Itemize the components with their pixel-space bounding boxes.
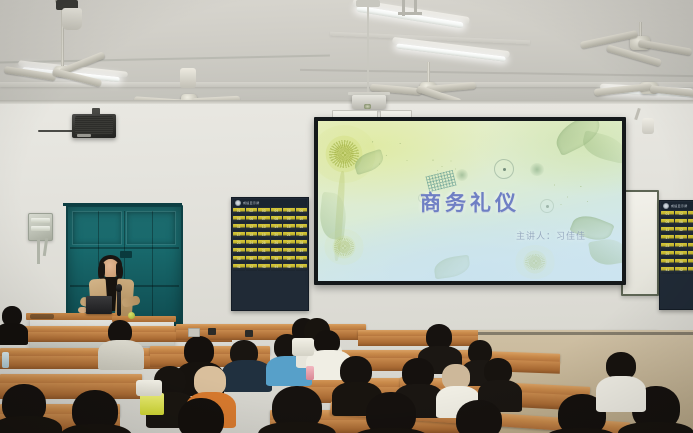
number-board-row: 050607 [661, 219, 693, 226]
laptop[interactable] [86, 296, 112, 314]
number-board-row: 414243 [661, 267, 693, 274]
sunflower-illustration [324, 229, 364, 265]
whiteboard [621, 190, 659, 296]
door-header [63, 203, 182, 206]
number-board-row: 171819202122 [233, 232, 307, 239]
number-board-cell[interactable]: 23 [661, 243, 674, 250]
number-board-row: 010203040506 [233, 208, 307, 215]
number-board-cell[interactable]: 20 [271, 232, 283, 239]
podium-item [30, 314, 54, 319]
number-board-cell[interactable]: 02 [675, 211, 688, 218]
speck-decoration [430, 157, 460, 173]
number-board-cell[interactable]: 41 [661, 267, 674, 274]
number-board-cell[interactable]: 06 [246, 216, 258, 223]
number-board-cell[interactable]: 45 [283, 264, 295, 271]
number-board-cell[interactable]: 13 [258, 224, 270, 231]
water-bottle [2, 352, 9, 368]
number-board-cell[interactable]: 24 [675, 243, 688, 250]
slide-title: 商务礼仪 [318, 187, 622, 217]
student-body [0, 416, 62, 433]
number-board-cell[interactable]: 39 [283, 256, 295, 263]
number-board-cell[interactable]: 06 [675, 219, 688, 226]
number-board-cell[interactable]: 29 [661, 251, 674, 258]
door-panel [126, 211, 176, 245]
number-board-cell[interactable]: 15 [283, 224, 295, 231]
number-board-cell[interactable]: 32 [271, 248, 283, 255]
number-board-row: 111213141516 [233, 224, 307, 231]
student-body [98, 340, 144, 370]
number-board-cell[interactable]: 29 [233, 248, 245, 255]
number-board-cell[interactable]: 05 [283, 208, 295, 215]
leaf-illustration [352, 149, 386, 175]
electrical-box [28, 213, 53, 241]
number-board-cell[interactable]: 05 [233, 216, 245, 223]
conduit [37, 238, 40, 264]
number-board-cell[interactable]: 37 [688, 259, 693, 266]
wall-outlet[interactable] [188, 328, 200, 337]
fan-blade [650, 85, 693, 97]
school-logo-icon [663, 203, 669, 209]
audience-member [0, 384, 62, 433]
number-board-cell[interactable]: 12 [246, 224, 258, 231]
wall-fixture [642, 118, 654, 134]
number-board-cell[interactable]: 17 [661, 235, 674, 242]
number-board-cell[interactable]: 37 [258, 256, 270, 263]
speck-decoration [368, 135, 414, 169]
number-board-cell[interactable]: 19 [688, 235, 693, 242]
wall-outlet[interactable] [208, 328, 216, 335]
number-board-cell[interactable]: 07 [258, 216, 270, 223]
number-board-row: 293031 [661, 251, 693, 258]
number-board-cell[interactable]: 11 [661, 227, 674, 234]
audience-member [100, 320, 146, 366]
number-board-cell[interactable]: 01 [233, 208, 245, 215]
leaf-illustration [580, 130, 622, 164]
wall-speaker [72, 114, 116, 138]
number-board-cell[interactable]: 25 [688, 243, 693, 250]
number-board-cell[interactable]: 43 [258, 264, 270, 271]
projection-screen[interactable]: 商务礼仪 主讲人：习佳佳 [318, 121, 622, 281]
number-board-cell[interactable]: 03 [688, 211, 693, 218]
student-head [456, 400, 502, 433]
door-panel [72, 211, 122, 245]
number-board-cell[interactable]: 41 [233, 264, 245, 271]
green-blob [456, 169, 468, 181]
number-board-cell[interactable]: 05 [661, 219, 674, 226]
number-board-cell[interactable]: 38 [271, 256, 283, 263]
student-body [258, 422, 336, 433]
number-board-cell[interactable]: 17 [233, 232, 245, 239]
number-board-cell[interactable]: 19 [258, 232, 270, 239]
number-board-cell[interactable]: 04 [271, 208, 283, 215]
number-board-cell[interactable]: 35 [661, 259, 674, 266]
fan-rod [427, 62, 430, 84]
number-board-cell[interactable]: 46 [296, 264, 308, 271]
number-board-cell[interactable]: 42 [675, 267, 688, 274]
number-board-cell[interactable]: 06 [296, 208, 308, 215]
number-board-cell[interactable]: 03 [258, 208, 270, 215]
ebox-breaker-row [31, 218, 50, 223]
number-board-right: 成绩显示牌01020305060711121317181923242529303… [659, 200, 693, 310]
projector-ceiling-plate [356, 0, 380, 7]
fan-canopy [62, 8, 82, 30]
number-board-header: 成绩显示牌 [233, 199, 307, 207]
wall-outlet[interactable] [245, 330, 253, 337]
student-body [0, 323, 28, 345]
number-board-row: 171819 [661, 235, 693, 242]
number-board-cell[interactable]: 18 [246, 232, 258, 239]
microphone-head [116, 284, 122, 292]
number-board-row: 232425262728 [233, 240, 307, 247]
number-board-row: 353637383940 [233, 256, 307, 263]
fan-blade [52, 68, 102, 87]
student-body [544, 428, 618, 433]
number-board-row: 414243444546 [233, 264, 307, 271]
student-body [596, 376, 646, 412]
number-board-cell[interactable]: 27 [283, 240, 295, 247]
audience-member [444, 400, 516, 433]
number-board-title: 成绩显示牌 [671, 204, 688, 208]
leaf-illustration [588, 236, 622, 268]
floor-edge [478, 332, 693, 335]
number-board-cell[interactable]: 07 [688, 219, 693, 226]
sunflower-illustration [514, 245, 556, 279]
speaker-brand-label [77, 134, 91, 137]
number-board-cell[interactable]: 13 [688, 227, 693, 234]
number-board-cell[interactable]: 28 [296, 240, 308, 247]
slide-subtitle: 主讲人：习佳佳 [516, 229, 586, 242]
audience-member [352, 392, 430, 433]
audience-member [166, 398, 238, 433]
student-head [178, 398, 224, 433]
number-board-header: 成绩显示牌 [661, 202, 693, 210]
student-body [618, 422, 693, 433]
school-logo-icon [235, 200, 241, 206]
number-board-title: 成绩显示牌 [243, 201, 260, 205]
number-board-cell[interactable]: 23 [233, 240, 245, 247]
audience-member [0, 306, 26, 336]
number-board-cell[interactable]: 09 [283, 216, 295, 223]
microphone-stand [117, 290, 121, 316]
number-board-cell[interactable]: 11 [233, 224, 245, 231]
number-board-row: 353637 [661, 259, 693, 266]
projector-lens [364, 104, 371, 109]
number-board-cell[interactable]: 33 [283, 248, 295, 255]
wall-ceiling-joint [0, 100, 693, 104]
ring-dot [494, 159, 514, 179]
student-body [60, 424, 132, 433]
student-body [352, 428, 430, 433]
number-board-cell[interactable]: 10 [296, 216, 308, 223]
number-board-cell[interactable]: 43 [688, 267, 693, 274]
green-blob [530, 163, 544, 176]
number-board-cell[interactable]: 36 [246, 256, 258, 263]
number-board-left: 成绩显示牌01020304050605060708091011121314151… [231, 197, 309, 311]
door-rail [70, 247, 179, 249]
pink-bottle [306, 366, 314, 380]
number-board-cell[interactable]: 31 [688, 251, 693, 258]
speaker-grille [75, 116, 113, 134]
number-board-row: 232425 [661, 243, 693, 250]
audience-member [58, 390, 132, 433]
projector-pole [367, 2, 369, 94]
number-board-cell[interactable]: 30 [675, 251, 688, 258]
leaf-illustration [551, 121, 606, 156]
number-board-cell[interactable]: 01 [661, 211, 674, 218]
ebox-breaker-row [31, 226, 50, 231]
hanger-bar [398, 12, 422, 15]
number-board-cell[interactable]: 40 [296, 256, 308, 263]
lecture-hall-photo: 成绩显示牌01020304050605060708091011121314151… [0, 0, 693, 433]
number-board-cell[interactable]: 35 [233, 256, 245, 263]
white-bag [292, 338, 314, 356]
number-board-cell[interactable]: 16 [296, 224, 308, 231]
apple [128, 312, 135, 319]
number-board-cell[interactable]: 14 [271, 224, 283, 231]
number-board-cell[interactable]: 34 [296, 248, 308, 255]
number-board-cell[interactable]: 25 [258, 240, 270, 247]
number-board-row: 010203 [661, 211, 693, 218]
leaf-illustration [433, 255, 471, 280]
yellow-bag [140, 393, 164, 415]
number-board-cell[interactable]: 26 [271, 240, 283, 247]
number-board-cell[interactable]: 44 [271, 264, 283, 271]
number-board-row: 111213 [661, 227, 693, 234]
number-board-row: 050607080910 [233, 216, 307, 223]
white-bag [136, 380, 162, 396]
number-board-cell[interactable]: 42 [246, 264, 258, 271]
projector[interactable] [352, 95, 386, 109]
number-board-cell[interactable]: 21 [283, 232, 295, 239]
student-head [366, 392, 416, 433]
number-board-cell[interactable]: 30 [246, 248, 258, 255]
audience-member [256, 386, 336, 433]
projection-screen-frame: 商务礼仪 主讲人：习佳佳 [314, 117, 626, 285]
number-board-row: 293031323334 [233, 248, 307, 255]
number-board-cell[interactable]: 12 [675, 227, 688, 234]
number-board-cell[interactable]: 08 [271, 216, 283, 223]
audience-member [596, 352, 646, 408]
number-board-cell[interactable]: 18 [675, 235, 688, 242]
number-board-cell[interactable]: 31 [258, 248, 270, 255]
number-board-cell[interactable]: 02 [246, 208, 258, 215]
number-board-cell[interactable]: 36 [675, 259, 688, 266]
sunflower-illustration [318, 125, 376, 183]
number-board-cell[interactable]: 24 [246, 240, 258, 247]
number-board-cell[interactable]: 22 [296, 232, 308, 239]
